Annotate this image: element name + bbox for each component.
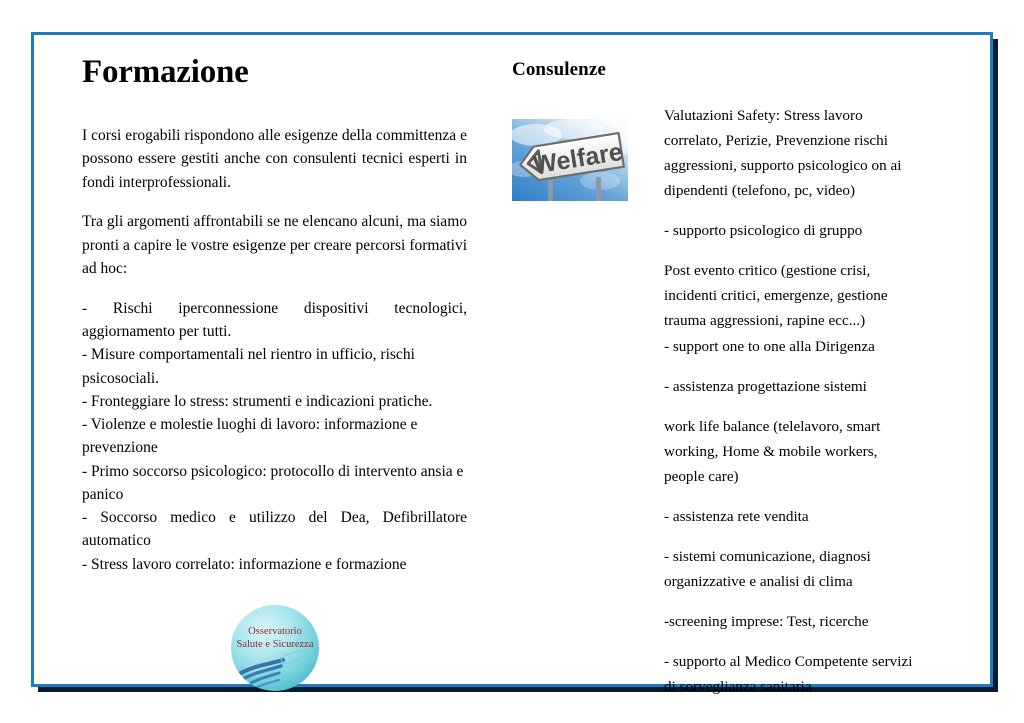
list-item: - Violenze e molestie luoghi di lavoro: … [82,413,467,460]
formazione-second-paragraph: Tra gli argomenti affrontabili se ne ele… [82,210,467,281]
list-item: - Misure comportamentali nel rientro in … [82,343,467,390]
consulenze-paragraph: - supporto al Medico Competente servizi … [664,649,920,699]
page-title-formazione: Formazione [82,55,467,90]
list-item: - Stress lavoro correlato: informazione … [82,553,467,576]
consulenze-lower-text: Post evento critico (gestione crisi, inc… [664,258,920,699]
welfare-road-sign-photo: Welfare [512,119,628,201]
left-column: Formazione I corsi erogabili rispondono … [82,55,467,694]
right-column: Consulenze [512,55,952,699]
consulenze-paragraph: - support one to one alla Dirigenza [664,334,920,359]
list-item: - Rischi iperconnessione dispositivi tec… [82,297,467,344]
osservatorio-salute-sicurezza-logo: Osservatorio Salute e Sicurezza [225,602,325,694]
logo-line-2: Salute e Sicurezza [236,639,313,650]
slide-frame: Formazione I corsi erogabili rispondono … [31,32,993,687]
formazione-topics-list: - Rischi iperconnessione dispositivi tec… [82,297,467,576]
slide-content-area: Formazione I corsi erogabili rispondono … [34,35,990,684]
consulenze-paragraph: - supporto psicologico di gruppo [664,218,920,243]
consulenze-paragraph: - sistemi comunicazione, diagnosi organi… [664,544,920,594]
consulenze-paragraph: - assistenza progettazione sistemi [664,374,920,399]
consulenze-paragraph: Valutazioni Safety: Stress lavoro correl… [664,103,920,203]
list-item: - Primo soccorso psicologico: protocollo… [82,460,467,507]
consulenze-paragraph: work life balance (telelavoro, smart wor… [664,414,920,489]
consulenze-paragraph: -screening imprese: Test, ricerche [664,609,920,634]
list-item: - Fronteggiare lo stress: strumenti e in… [82,390,467,413]
consulenze-paragraph: Post evento critico (gestione crisi, inc… [664,258,920,333]
consulenze-top-text: Valutazioni Safety: Stress lavoro correl… [664,103,920,243]
logo-container: Osservatorio Salute e Sicurezza [82,602,467,694]
consulenze-paragraph: - assistenza rete vendita [664,504,920,529]
consulenze-top-row: Welfare Valutazioni Safety: Stress lavor… [512,103,952,243]
logo-line-1: Osservatorio [248,626,302,637]
section-title-consulenze: Consulenze [512,60,952,81]
formazione-intro-paragraph: I corsi erogabili rispondono alle esigen… [82,124,467,195]
list-item: - Soccorso medico e utilizzo del Dea, De… [82,506,467,553]
